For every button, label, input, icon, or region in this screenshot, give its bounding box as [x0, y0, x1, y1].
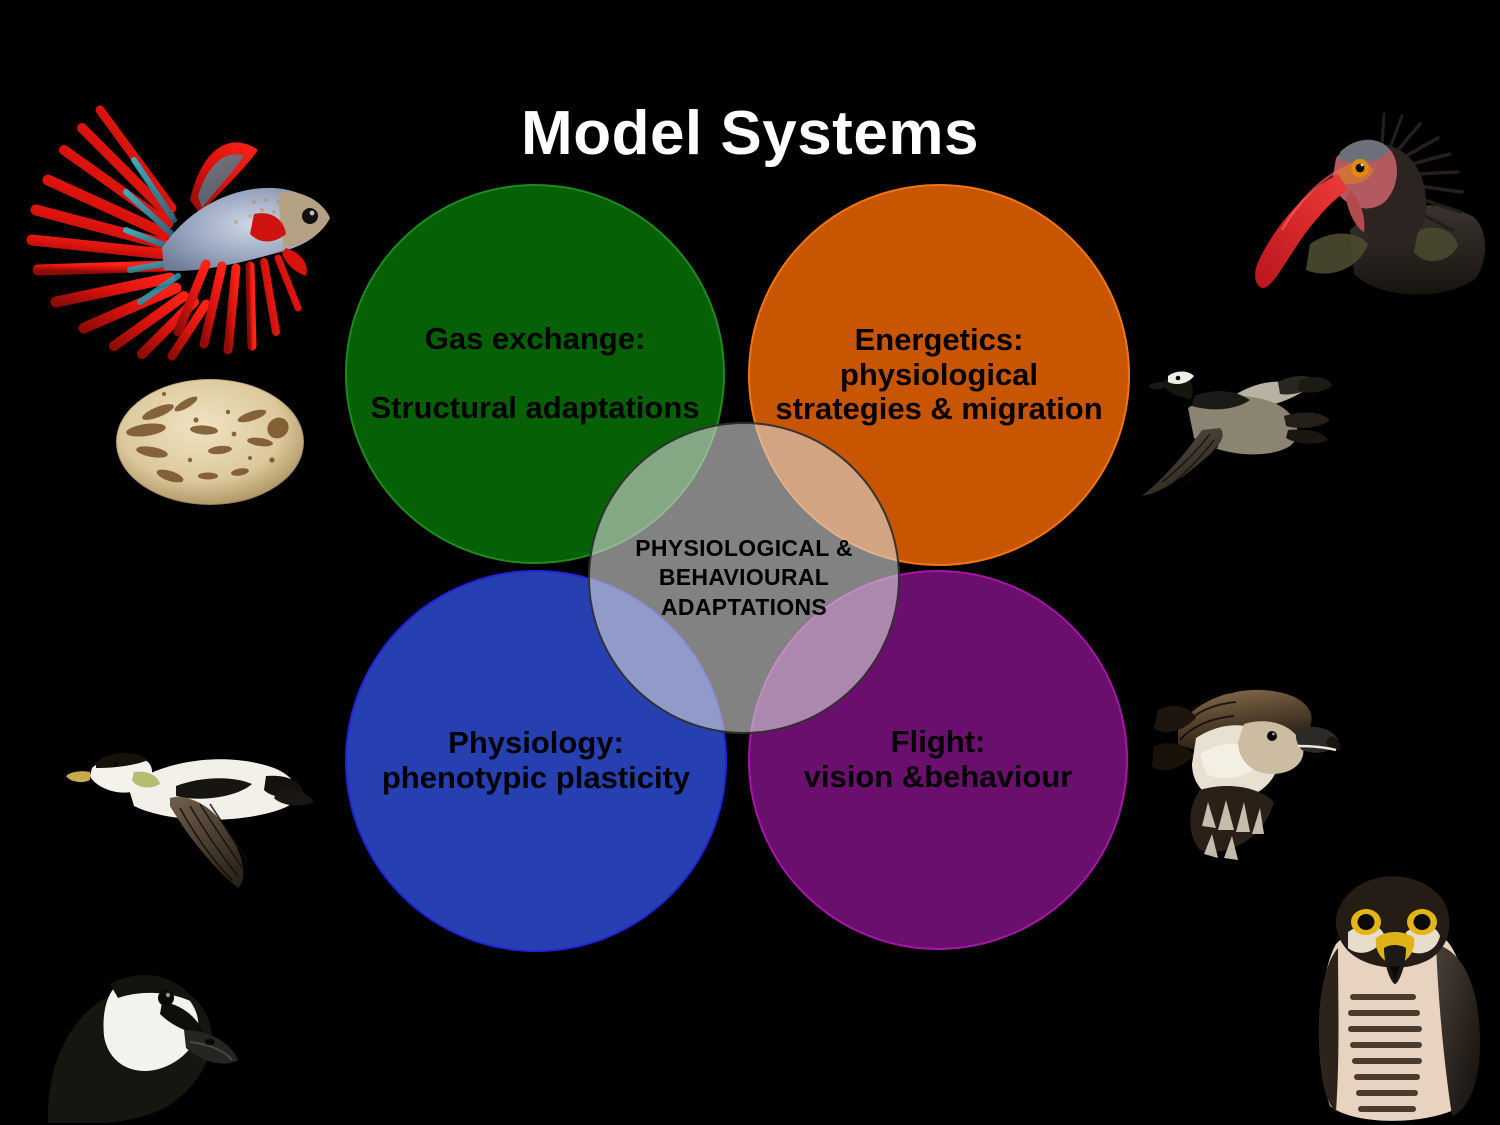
venn-circle-center-adaptations[interactable]: PHYSIOLOGICAL & BEHAVIOURAL ADAPTATIONS	[588, 422, 900, 734]
speckled-egg-photo	[100, 368, 320, 518]
venn-label-energetics: Energetics: physiological strategies & m…	[750, 323, 1128, 427]
venn-label-flight: Flight: vision &behaviour	[790, 725, 1087, 794]
venn-body-energetics: physiological strategies & migration	[764, 358, 1114, 427]
venn-label-gas-exchange: Gas exchange: Structural adaptations	[357, 322, 714, 425]
venn-center-line-1: PHYSIOLOGICAL &	[635, 535, 853, 561]
slide-canvas: Model Systems Gas exchange: Structural a…	[0, 0, 1500, 1125]
venn-label-center: PHYSIOLOGICAL & BEHAVIOURAL ADAPTATIONS	[629, 534, 859, 622]
venn-body-gas-exchange: Structural adaptations	[371, 391, 700, 426]
venn-heading-physiology: Physiology:	[382, 726, 690, 761]
venn-heading-gas-exchange: Gas exchange:	[371, 322, 700, 357]
venn-body-physiology: phenotypic plasticity	[382, 761, 690, 796]
barnacle-goose-flight-photo	[1132, 352, 1382, 532]
betta-fish-photo	[22, 88, 342, 398]
northern-bald-ibis-photo	[1232, 98, 1498, 314]
venn-label-physiology: Physiology: phenotypic plasticity	[368, 726, 704, 795]
peregrine-falcon-photo	[1296, 848, 1500, 1125]
venn-center-line-3: ADAPTATIONS	[661, 594, 827, 620]
venn-heading-flight: Flight:	[804, 725, 1073, 760]
eider-duck-flight-photo	[38, 728, 328, 908]
venn-body-flight: vision &behaviour	[804, 760, 1073, 795]
barnacle-goose-head-photo	[28, 938, 318, 1123]
venn-heading-energetics: Energetics:	[764, 323, 1114, 358]
venn-center-line-2: BEHAVIOURAL	[659, 564, 829, 590]
